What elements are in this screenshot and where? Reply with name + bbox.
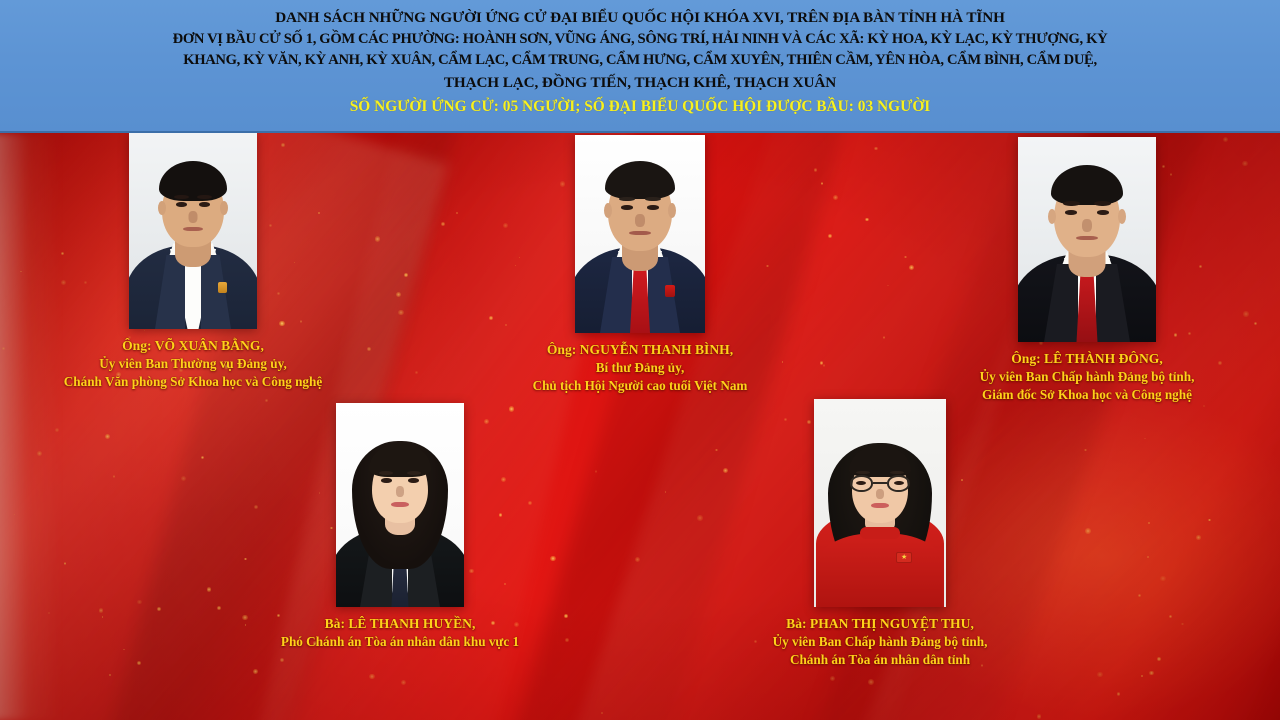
candidate-role-1-line-2: Chánh Văn phòng Sở Khoa học và Công nghệ	[64, 373, 322, 391]
candidate-photo-3	[1018, 137, 1156, 342]
candidate-row-top: Ông: VÕ XUÂN BẰNG, Ủy viên Ban Thường vụ…	[0, 133, 1280, 404]
candidate-role-2-line-1: Bí thư Đảng ủy,	[533, 359, 748, 377]
header-title-line-1: DANH SÁCH NHỮNG NGƯỜI ỨNG CỬ ĐẠI BIỂU QU…	[275, 7, 1005, 29]
header-title-line-3: KHANG, KỲ VĂN, KỲ ANH, KỲ XUÂN, CẨM LẠC,…	[183, 50, 1097, 72]
candidate-card-5[interactable]: ★ Bà: PHAN THỊ NGUYỆT THU, Ủy viên Ban C…	[710, 399, 1050, 669]
candidate-role-1-line-1: Ủy viên Ban Thường vụ Đảng ủy,	[64, 355, 322, 373]
header-title-line-2: ĐƠN VỊ BẦU CỬ SỐ 1, GỒM CÁC PHƯỜNG: HOÀN…	[173, 29, 1108, 51]
candidate-card-1[interactable]: Ông: VÕ XUÂN BẰNG, Ủy viên Ban Thường vụ…	[18, 133, 368, 404]
candidate-name-5: Bà: PHAN THỊ NGUYỆT THU,	[773, 615, 988, 633]
candidate-row-bottom: Bà: LÊ THANH HUYỀN, Phó Chánh án Tòa án …	[230, 403, 1050, 669]
candidate-caption-1: Ông: VÕ XUÂN BẰNG, Ủy viên Ban Thường vụ…	[64, 337, 322, 391]
election-candidate-poster: DANH SÁCH NHỮNG NGƯỜI ỨNG CỬ ĐẠI BIỂU QU…	[0, 0, 1280, 720]
candidate-photo-1	[129, 133, 257, 329]
candidate-role-5-line-1: Ủy viên Ban Chấp hành Đảng bộ tỉnh,	[773, 633, 988, 651]
candidate-role-4-line-1: Phó Chánh án Tòa án nhân dân khu vực 1	[281, 633, 519, 651]
candidate-caption-4: Bà: LÊ THANH HUYỀN, Phó Chánh án Tòa án …	[281, 615, 519, 651]
candidate-name-2: Ông: NGUYỄN THANH BÌNH,	[533, 341, 748, 359]
candidate-name-1: Ông: VÕ XUÂN BẰNG,	[64, 337, 322, 355]
candidate-name-3: Ông: LÊ THÀNH ĐÔNG,	[980, 350, 1195, 368]
candidate-card-2[interactable]: Ông: NGUYỄN THANH BÌNH, Bí thư Đảng ủy, …	[465, 135, 815, 404]
header-title-line-4: THẠCH LẠC, ĐỒNG TIẾN, THẠCH KHÊ, THẠCH X…	[444, 72, 836, 94]
candidate-card-3[interactable]: Ông: LÊ THÀNH ĐÔNG, Ủy viên Ban Chấp hàn…	[912, 137, 1262, 404]
candidate-role-5-line-2: Chánh án Tòa án nhân dân tỉnh	[773, 651, 988, 669]
header-count-line: SỐ NGƯỜI ỨNG CỬ: 05 NGƯỜI; SỐ ĐẠI BIỂU Q…	[350, 95, 931, 119]
candidate-caption-2: Ông: NGUYỄN THANH BÌNH, Bí thư Đảng ủy, …	[533, 341, 748, 395]
candidate-card-4[interactable]: Bà: LÊ THANH HUYỀN, Phó Chánh án Tòa án …	[230, 403, 570, 669]
candidate-photo-2	[575, 135, 705, 333]
candidate-role-3-line-1: Ủy viên Ban Chấp hành Đảng bộ tỉnh,	[980, 368, 1195, 386]
poster-header: DANH SÁCH NHỮNG NGƯỜI ỨNG CỬ ĐẠI BIỂU QU…	[0, 0, 1280, 133]
candidate-photo-4	[336, 403, 464, 607]
candidate-photo-5: ★	[814, 399, 946, 607]
candidate-name-4: Bà: LÊ THANH HUYỀN,	[281, 615, 519, 633]
candidate-caption-5: Bà: PHAN THỊ NGUYỆT THU, Ủy viên Ban Chấ…	[773, 615, 988, 669]
candidate-caption-3: Ông: LÊ THÀNH ĐÔNG, Ủy viên Ban Chấp hàn…	[980, 350, 1195, 404]
candidate-role-2-line-2: Chủ tịch Hội Người cao tuổi Việt Nam	[533, 377, 748, 395]
red-silk-background: Ông: VÕ XUÂN BẰNG, Ủy viên Ban Thường vụ…	[0, 133, 1280, 720]
